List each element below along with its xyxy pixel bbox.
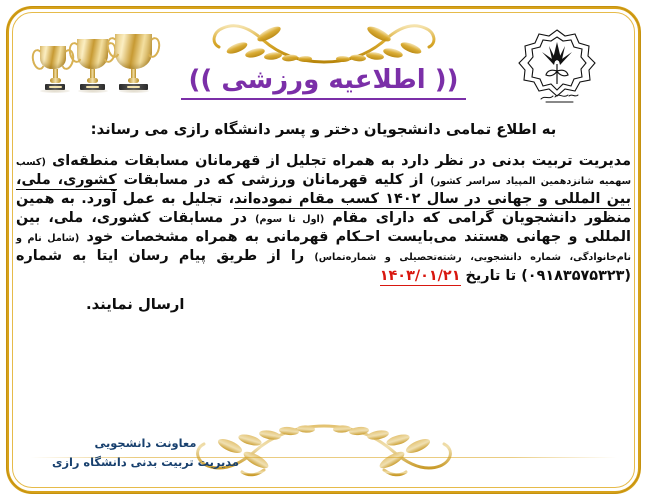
signature-block: معاونت دانشجویی مدیریت تربیت بدنی دانشگا… [52,434,239,472]
body-text-segment-6: تا تاریخ [461,268,522,284]
body-text-segment-2: از کلیه قهرمانان ورزشی که در مسابقات [117,172,431,188]
announcement-body: به اطلاع تمامی دانشجویان دختر و پسر دانش… [16,120,631,328]
signature-line-deputy: معاونت دانشجویی [52,434,239,453]
body-line-greeting: به اطلاع تمامی دانشجویان دختر و پسر دانش… [16,120,631,140]
body-text-segment-1: مدیریت تربیت بدنی در نظر دارد به همراه ت… [46,153,631,169]
deadline-date: ۱۴۰۳/۰۱/۲۱ [380,268,461,286]
body-text-segment-5: را از طریق پیام رسان ایتا به شماره [16,248,314,264]
title-container: (( اطلاعیه ورزشی )) [0,66,647,100]
contact-phone-number: (۰۹۱۸۳۵۷۵۳۲۳) [521,268,631,284]
body-paragraph-main: مدیریت تربیت بدنی در نظر دارد به همراه ت… [16,152,631,286]
body-line-closing: ارسال نمایند. [16,296,631,313]
page-title: (( اطلاعیه ورزشی )) [181,66,467,100]
signature-line-department: مدیریت تربیت بدنی دانشگاه رازی [52,453,239,472]
poster-canvas: (( اطلاعیه ورزشی )) به اطلاع تمامی دانشج… [0,0,647,500]
body-note-rank-range: (اول تا سوم) [255,214,324,225]
